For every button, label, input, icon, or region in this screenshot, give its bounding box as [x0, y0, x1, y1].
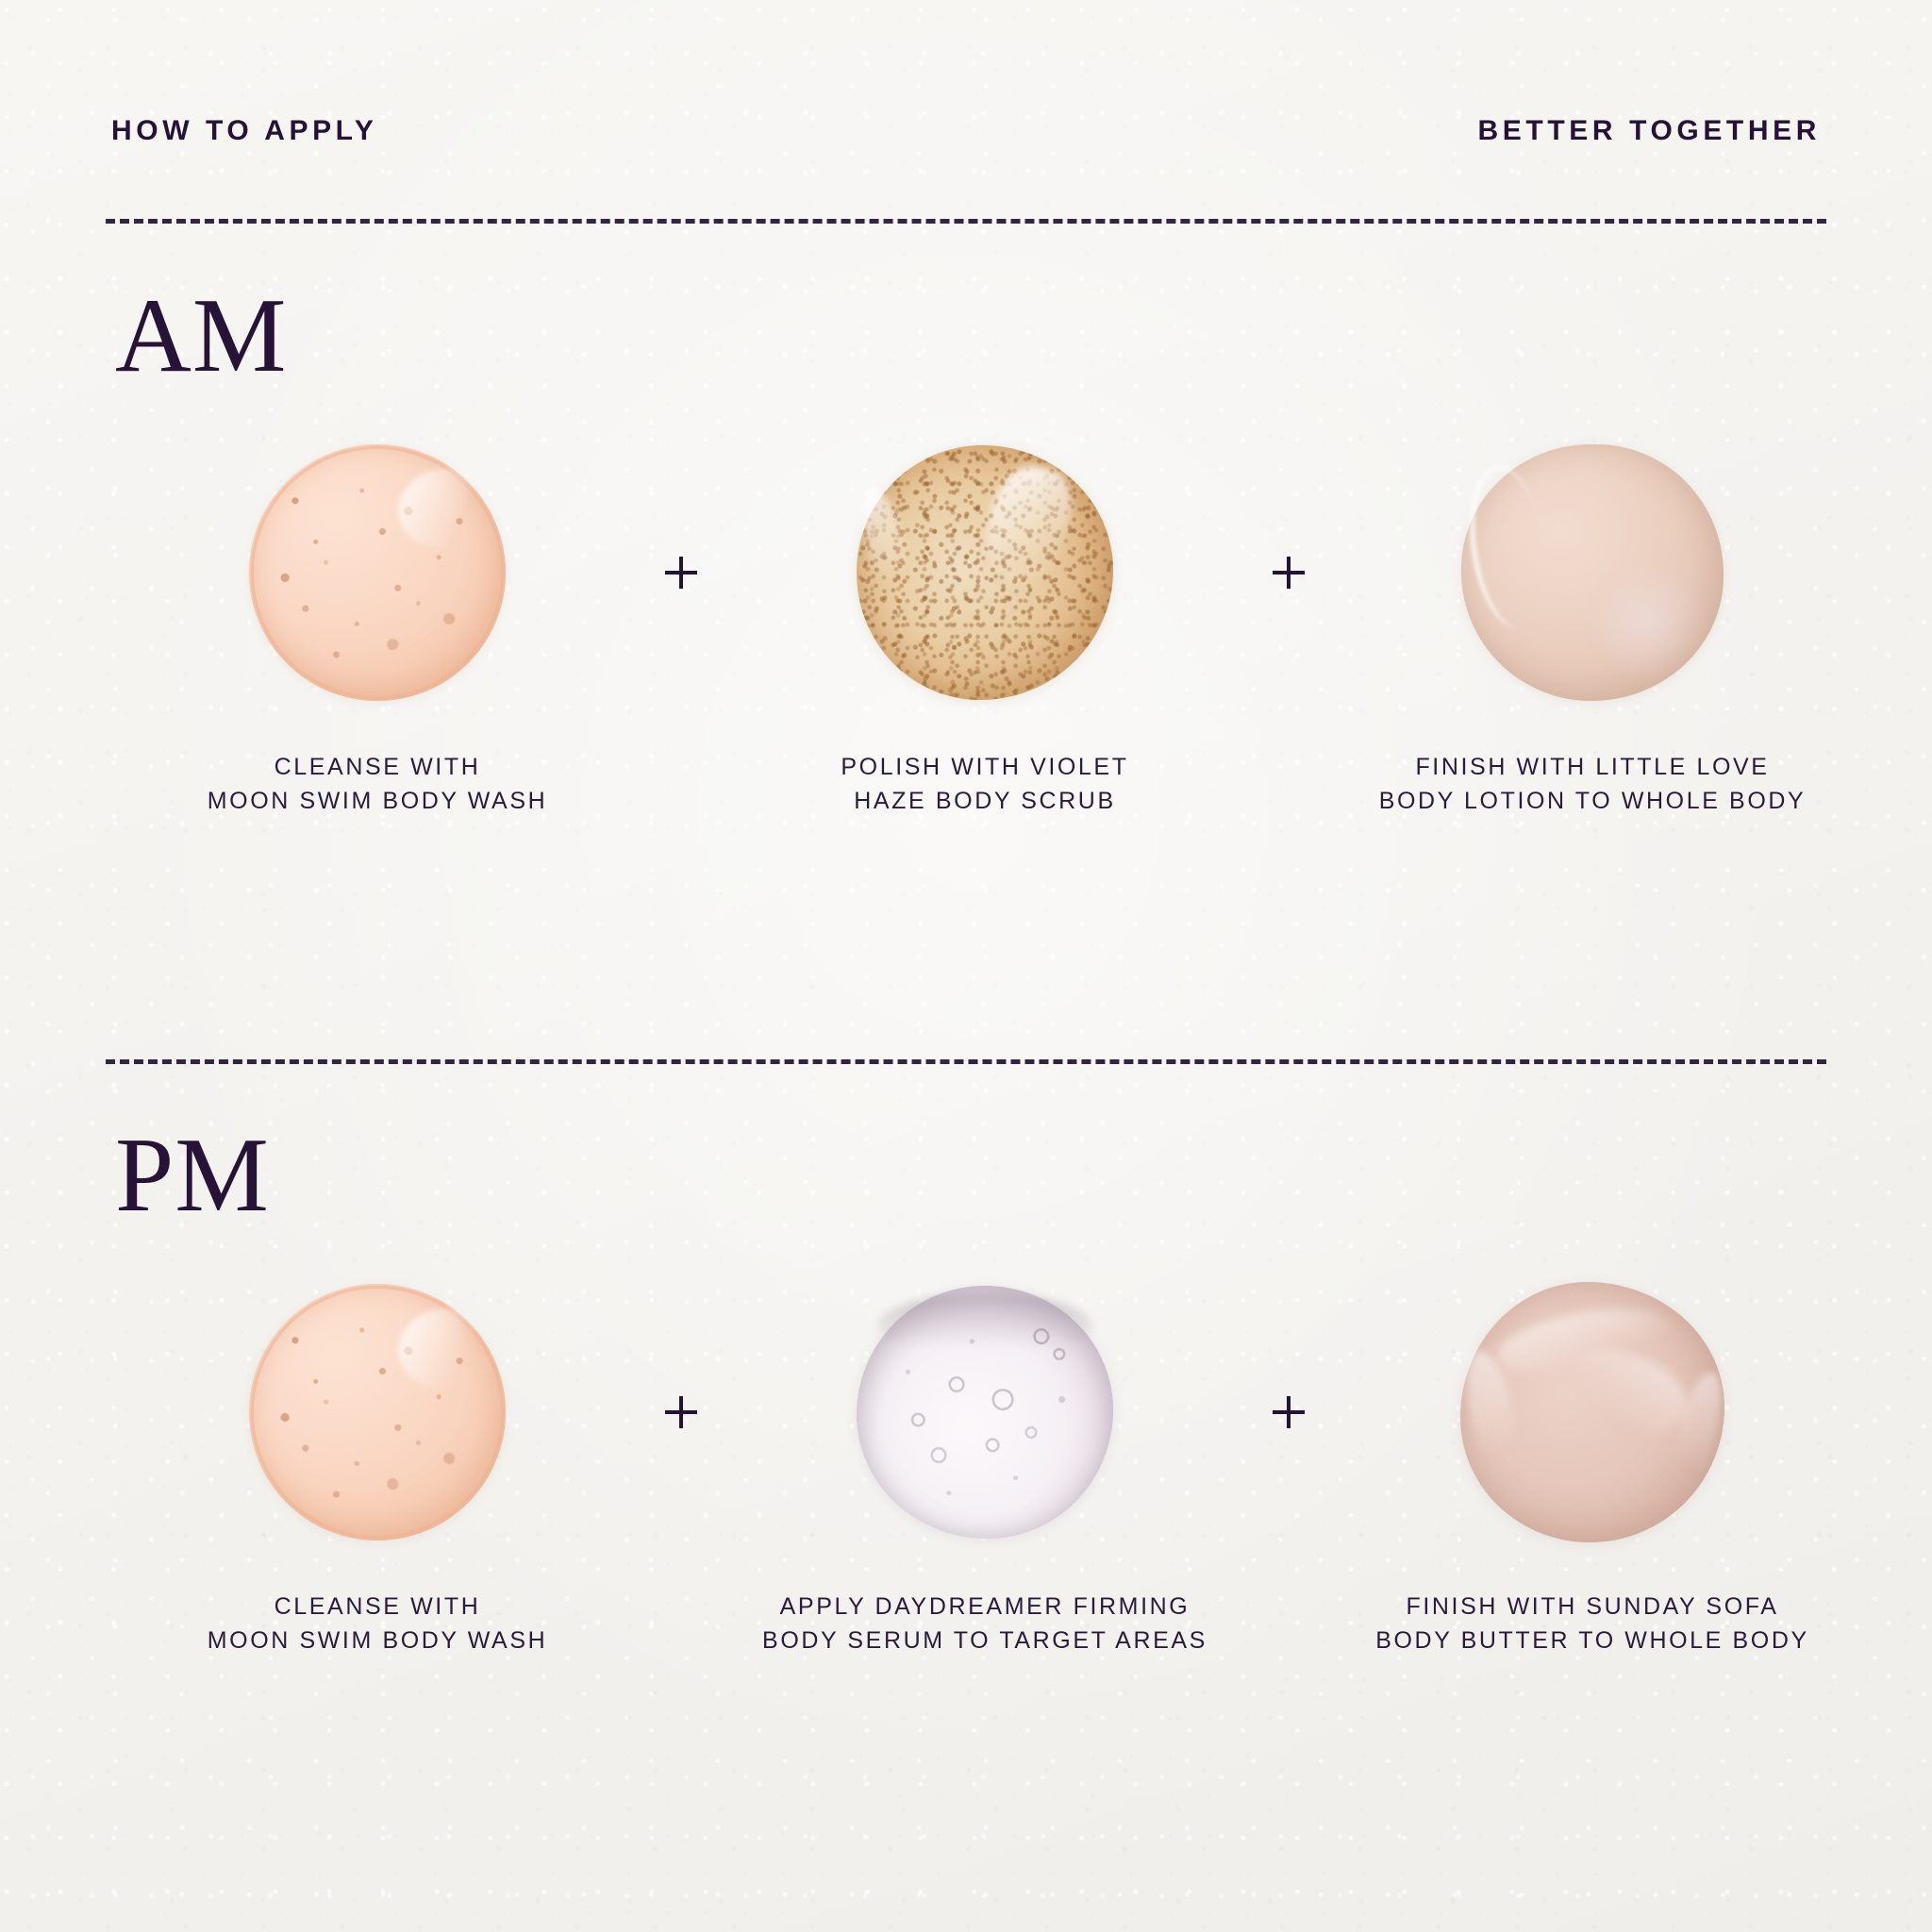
step-caption: CLEANSE WITH MOON SWIM BODY WASH [208, 1591, 548, 1657]
body-wash-swatch [249, 1284, 506, 1541]
plus-icon [645, 426, 717, 719]
step-am-3: FINISH WITH LITTLE LOVE BODY LOTION TO W… [1357, 426, 1828, 818]
step-am-2: POLISH WITH VIOLET HAZE BODY SCRUB [749, 426, 1221, 818]
section-heading-pm: PM [115, 1123, 270, 1228]
step-am-1: CLEANSE WITH MOON SWIM BODY WASH [142, 426, 613, 818]
body-lotion-swatch [1461, 444, 1724, 701]
step-caption: FINISH WITH SUNDAY SOFA BODY BUTTER TO W… [1375, 1591, 1809, 1657]
step-caption: CLEANSE WITH MOON SWIM BODY WASH [208, 751, 548, 818]
steps-row-am: CLEANSE WITH MOON SWIM BODY WASH POLISH … [142, 426, 1828, 818]
header-row: HOW TO APPLY BETTER TOGETHER [111, 115, 1821, 147]
step-caption: APPLY DAYDREAMER FIRMING BODY SERUM TO T… [762, 1591, 1207, 1657]
swatch-stage [222, 1266, 533, 1558]
section-heading-am: AM [115, 283, 287, 389]
divider-middle [106, 1059, 1826, 1064]
plus-icon [645, 1266, 717, 1558]
steps-row-pm: CLEANSE WITH MOON SWIM BODY WASH APPLY D… [142, 1266, 1828, 1657]
swatch-stage [1437, 426, 1748, 719]
better-together-label: BETTER TOGETHER [1478, 115, 1821, 147]
swatch-edge-highlight [1460, 460, 1556, 632]
step-pm-1: CLEANSE WITH MOON SWIM BODY WASH [142, 1266, 613, 1657]
step-caption: POLISH WITH VIOLET HAZE BODY SCRUB [841, 751, 1128, 818]
swatch-sheen [1587, 562, 1707, 680]
body-wash-swatch [249, 444, 506, 701]
swatch-stage [829, 426, 1141, 719]
how-to-apply-label: HOW TO APPLY [111, 115, 377, 147]
body-serum-swatch [857, 1286, 1113, 1539]
step-pm-3: FINISH WITH SUNDAY SOFA BODY BUTTER TO W… [1357, 1266, 1828, 1657]
swatch-top-shadow [877, 1293, 1092, 1359]
body-scrub-swatch [857, 445, 1113, 700]
routine-infographic: HOW TO APPLY BETTER TOGETHER AM CLEANSE … [0, 0, 1932, 1932]
swatch-stage [829, 1266, 1141, 1558]
divider-top [106, 219, 1826, 224]
plus-icon [1253, 426, 1324, 719]
plus-icon [1253, 1266, 1324, 1558]
step-caption: FINISH WITH LITTLE LOVE BODY LOTION TO W… [1379, 751, 1807, 818]
swatch-stage [222, 426, 533, 719]
swatch-stage [1437, 1266, 1748, 1558]
body-butter-swatch [1460, 1282, 1724, 1542]
step-pm-2: APPLY DAYDREAMER FIRMING BODY SERUM TO T… [749, 1266, 1221, 1657]
